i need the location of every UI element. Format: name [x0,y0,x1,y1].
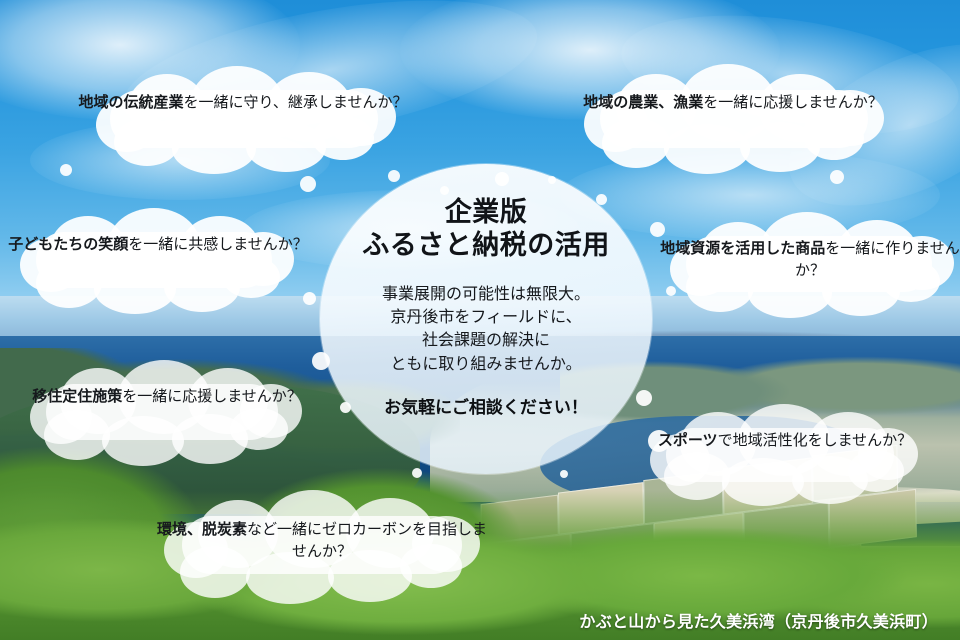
bubble-text: 地域の伝統産業を一緒に守り、継承しませんか？ [78,92,408,114]
bubble-bold-text: 環境、脱炭素 [157,521,247,538]
bubble-rest-text: など一緒にゼロカーボンを目指しませんか？ [247,521,487,560]
bubble-bold-text: 地域資源を活用した商品 [660,240,825,257]
cloud-puff [172,124,256,174]
bubble-bold-text: 地域の農業、漁業 [583,94,703,111]
bubble-text: 環境、脱炭素など一緒にゼロカーボンを目指しませんか？ [150,519,494,563]
bubble-sports[interactable]: スポーツで地域活性化をしませんか？ [640,404,930,510]
cloud-puff [36,258,102,308]
cloud-puff [230,408,288,450]
bubble-rest-text: を一緒に共感しませんか？ [128,236,308,253]
bubble-rest-text: を一緒に守り、継承しませんか？ [184,94,408,111]
center-circle-content: 企業版 ふるさと納税の活用 事業展開の可能性は無限大。 京丹後市をフィールドに、… [320,164,652,474]
cloud-puff [664,452,730,500]
bubble-bold-text: 子どもたちの笑顔 [8,236,128,253]
cloud-puff [312,116,374,160]
cloud-puff [848,450,904,492]
cloud-puff [602,118,670,168]
cloud-puff [222,256,280,298]
bubble-text: 移住定住施策を一緒に応援しませんか？ [18,386,316,408]
bubble-local-resources-products[interactable]: 地域資源を活用した商品を一緒に作りませんか？ [660,208,960,320]
center-body-text: 事業展開の可能性は無限大。 京丹後市をフィールドに、 社会課題の解決に ともに取… [382,283,590,376]
bubble-text: スポーツで地域活性化をしませんか？ [640,430,930,452]
bubble-agriculture-fishery[interactable]: 地域の農業、漁業を一緒に応援しませんか？ [568,62,898,174]
poster-root: 企業版 ふるさと納税の活用 事業展開の可能性は無限大。 京丹後市をフィールドに、… [0,0,960,640]
bubble-bold-text: スポーツ [658,432,718,449]
bubble-bold-text: 移住定住施策 [32,388,122,405]
center-cta-text: お気軽にご相談ください！ [384,393,588,418]
bubble-rest-text: を一緒に応援しませんか？ [703,94,883,111]
bubble-traditional-industry[interactable]: 地域の伝統産業を一緒に守り、継承しませんか？ [78,62,408,174]
bubble-rest-text: で地域活性化をしませんか？ [718,432,913,449]
bubble-text: 地域資源を活用した商品を一緒に作りませんか？ [660,238,960,282]
bubble-migration-settlement[interactable]: 移住定住施策を一緒に応援しませんか？ [18,358,316,468]
bubble-rest-text: を一緒に応援しませんか？ [122,388,302,405]
bubble-text: 子どもたちの笑顔を一緒に共感しませんか？ [8,234,308,256]
bubble-bold-text: 地域の伝統産業 [79,94,184,111]
bubble-text: 地域の農業、漁業を一緒に応援しませんか？ [568,92,898,114]
cloud-puff [664,124,750,174]
photo-caption: かぶと山から見た久美浜湾（京丹後市久美浜町） [579,608,938,632]
bubble-environment-decarbonization[interactable]: 環境、脱炭素など一緒にゼロカーボンを目指しませんか？ [150,488,494,604]
cloud-puff [114,118,180,166]
bubble-children-smiles[interactable]: 子どもたちの笑顔を一緒に共感しませんか？ [8,204,308,316]
cloud-puff [44,410,110,460]
cloud-puff [804,116,864,160]
center-title: 企業版 ふるさと納税の活用 [362,196,610,263]
